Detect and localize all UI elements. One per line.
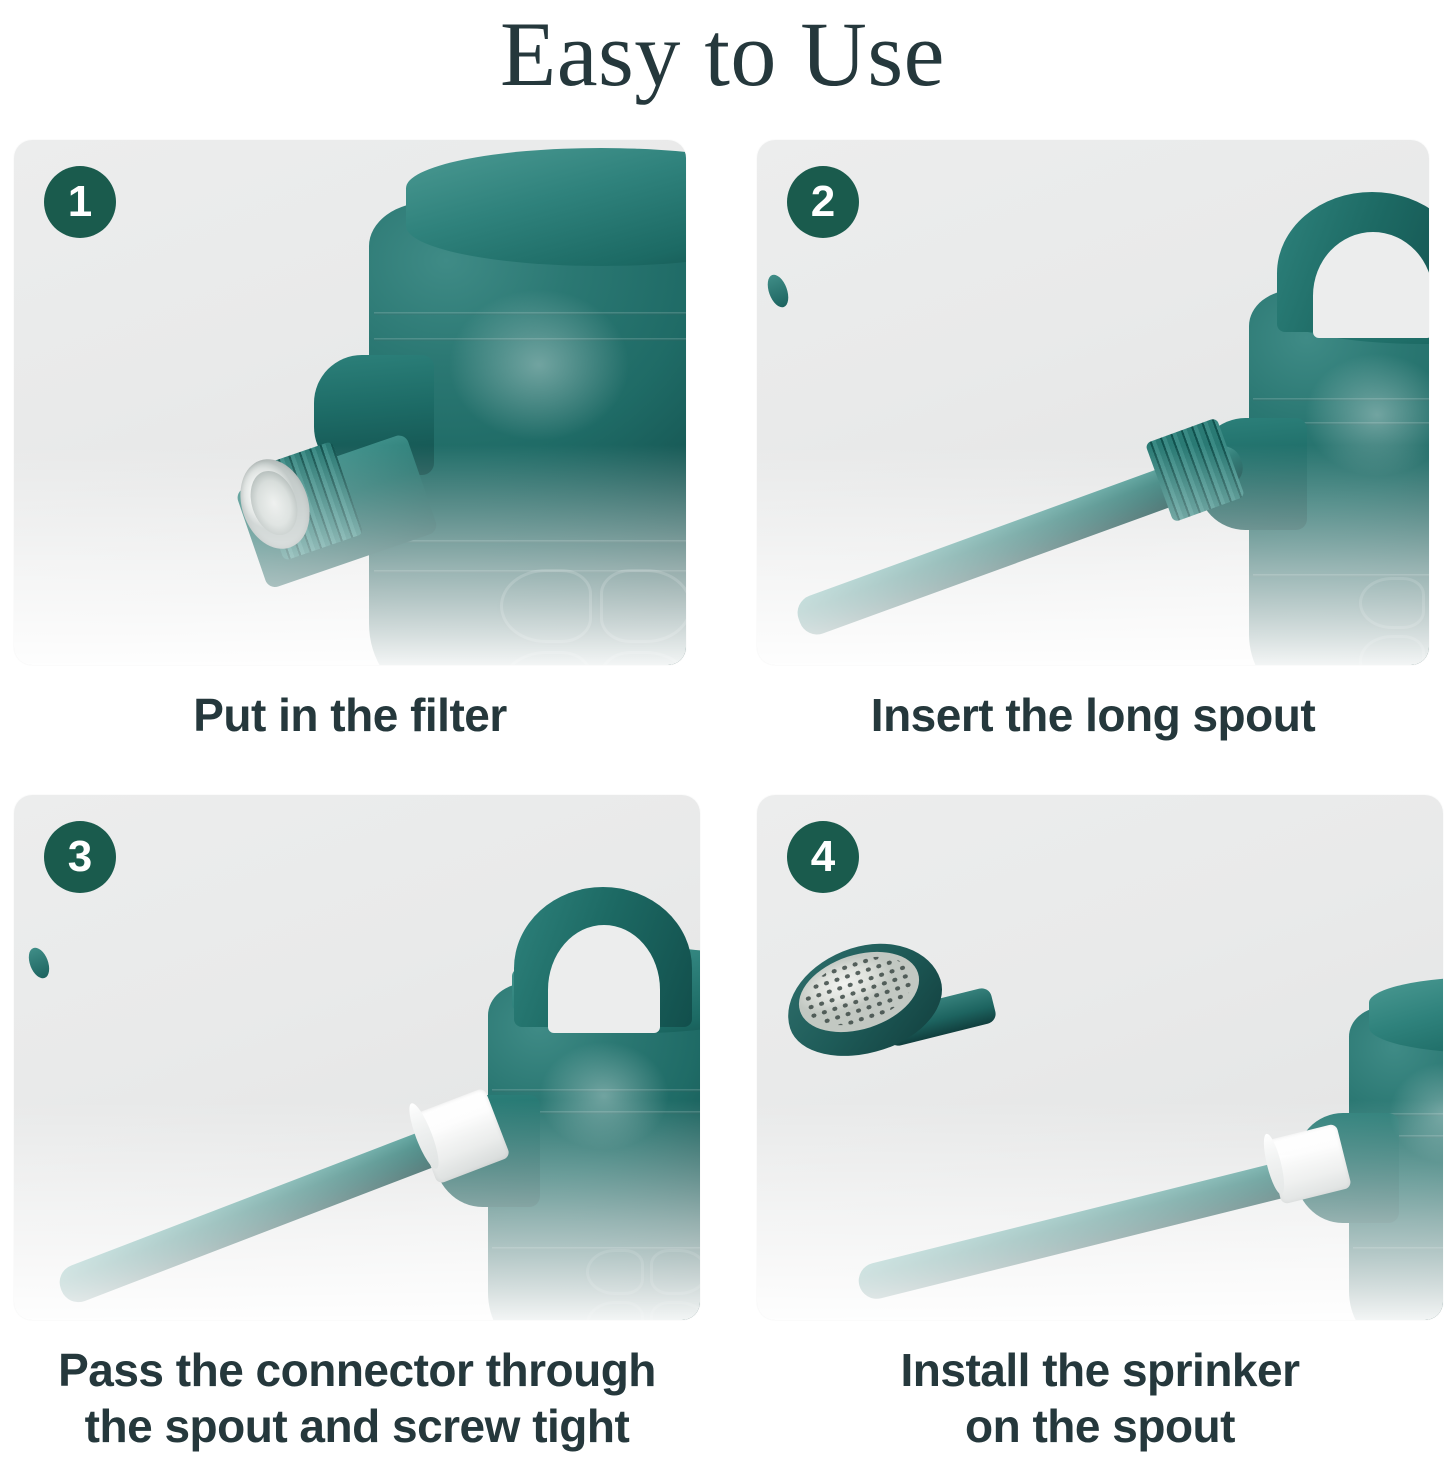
step-3-caption-line-2: the spout and screw tight [14, 1398, 700, 1454]
step-3-caption: Pass the connector through the spout and… [14, 1342, 700, 1454]
page-title: Easy to Use [0, 2, 1445, 106]
step-number-badge-2: 2 [787, 166, 859, 238]
flower-emboss [1357, 575, 1429, 665]
step-1-caption: Put in the filter [14, 687, 686, 743]
can-rib [374, 312, 686, 315]
can-lid [406, 148, 686, 266]
can-rib [1353, 1247, 1443, 1250]
watering-can-illustration-1 [14, 140, 686, 665]
spout-tip [25, 945, 53, 981]
step-2-image-card: 2 [757, 140, 1429, 665]
can-rib [374, 540, 686, 543]
step-4-caption: Install the sprinker on the spout [757, 1342, 1443, 1454]
watering-can-illustration-4 [757, 795, 1443, 1320]
infographic-page: Easy to Use 1 [0, 0, 1445, 1460]
long-spout-tube [855, 1152, 1329, 1303]
watering-can-illustration-3 [14, 795, 700, 1320]
watering-can-illustration-2 [757, 140, 1429, 665]
step-2-caption-line-1: Insert the long spout [871, 689, 1315, 741]
steps-grid: 1 [0, 140, 1445, 1460]
step-number-badge-3: 3 [44, 821, 116, 893]
step-1-caption-line-1: Put in the filter [193, 689, 507, 741]
step-card-2: 2 [757, 140, 1429, 743]
step-number-badge-4: 4 [787, 821, 859, 893]
can-rib [492, 1089, 700, 1092]
step-card-3: 3 [14, 795, 700, 1454]
step-card-4: 4 [757, 795, 1443, 1454]
step-number-badge-1: 1 [44, 166, 116, 238]
step-2-caption: Insert the long spout [757, 687, 1429, 743]
step-3-image-card: 3 [14, 795, 700, 1320]
step-4-caption-line-2: on the spout [757, 1398, 1443, 1454]
long-spout-tube [54, 1114, 478, 1307]
can-rib [1253, 398, 1429, 401]
can-rib [374, 338, 686, 341]
flower-emboss [496, 565, 686, 665]
step-4-caption-line-1: Install the sprinker [900, 1344, 1299, 1396]
step-1-image-card: 1 [14, 140, 686, 665]
step-3-caption-line-1: Pass the connector through [58, 1344, 656, 1396]
flower-emboss [584, 1247, 700, 1320]
step-4-image-card: 4 [757, 795, 1443, 1320]
spout-tip [764, 272, 793, 310]
step-card-1: 1 [14, 140, 686, 743]
